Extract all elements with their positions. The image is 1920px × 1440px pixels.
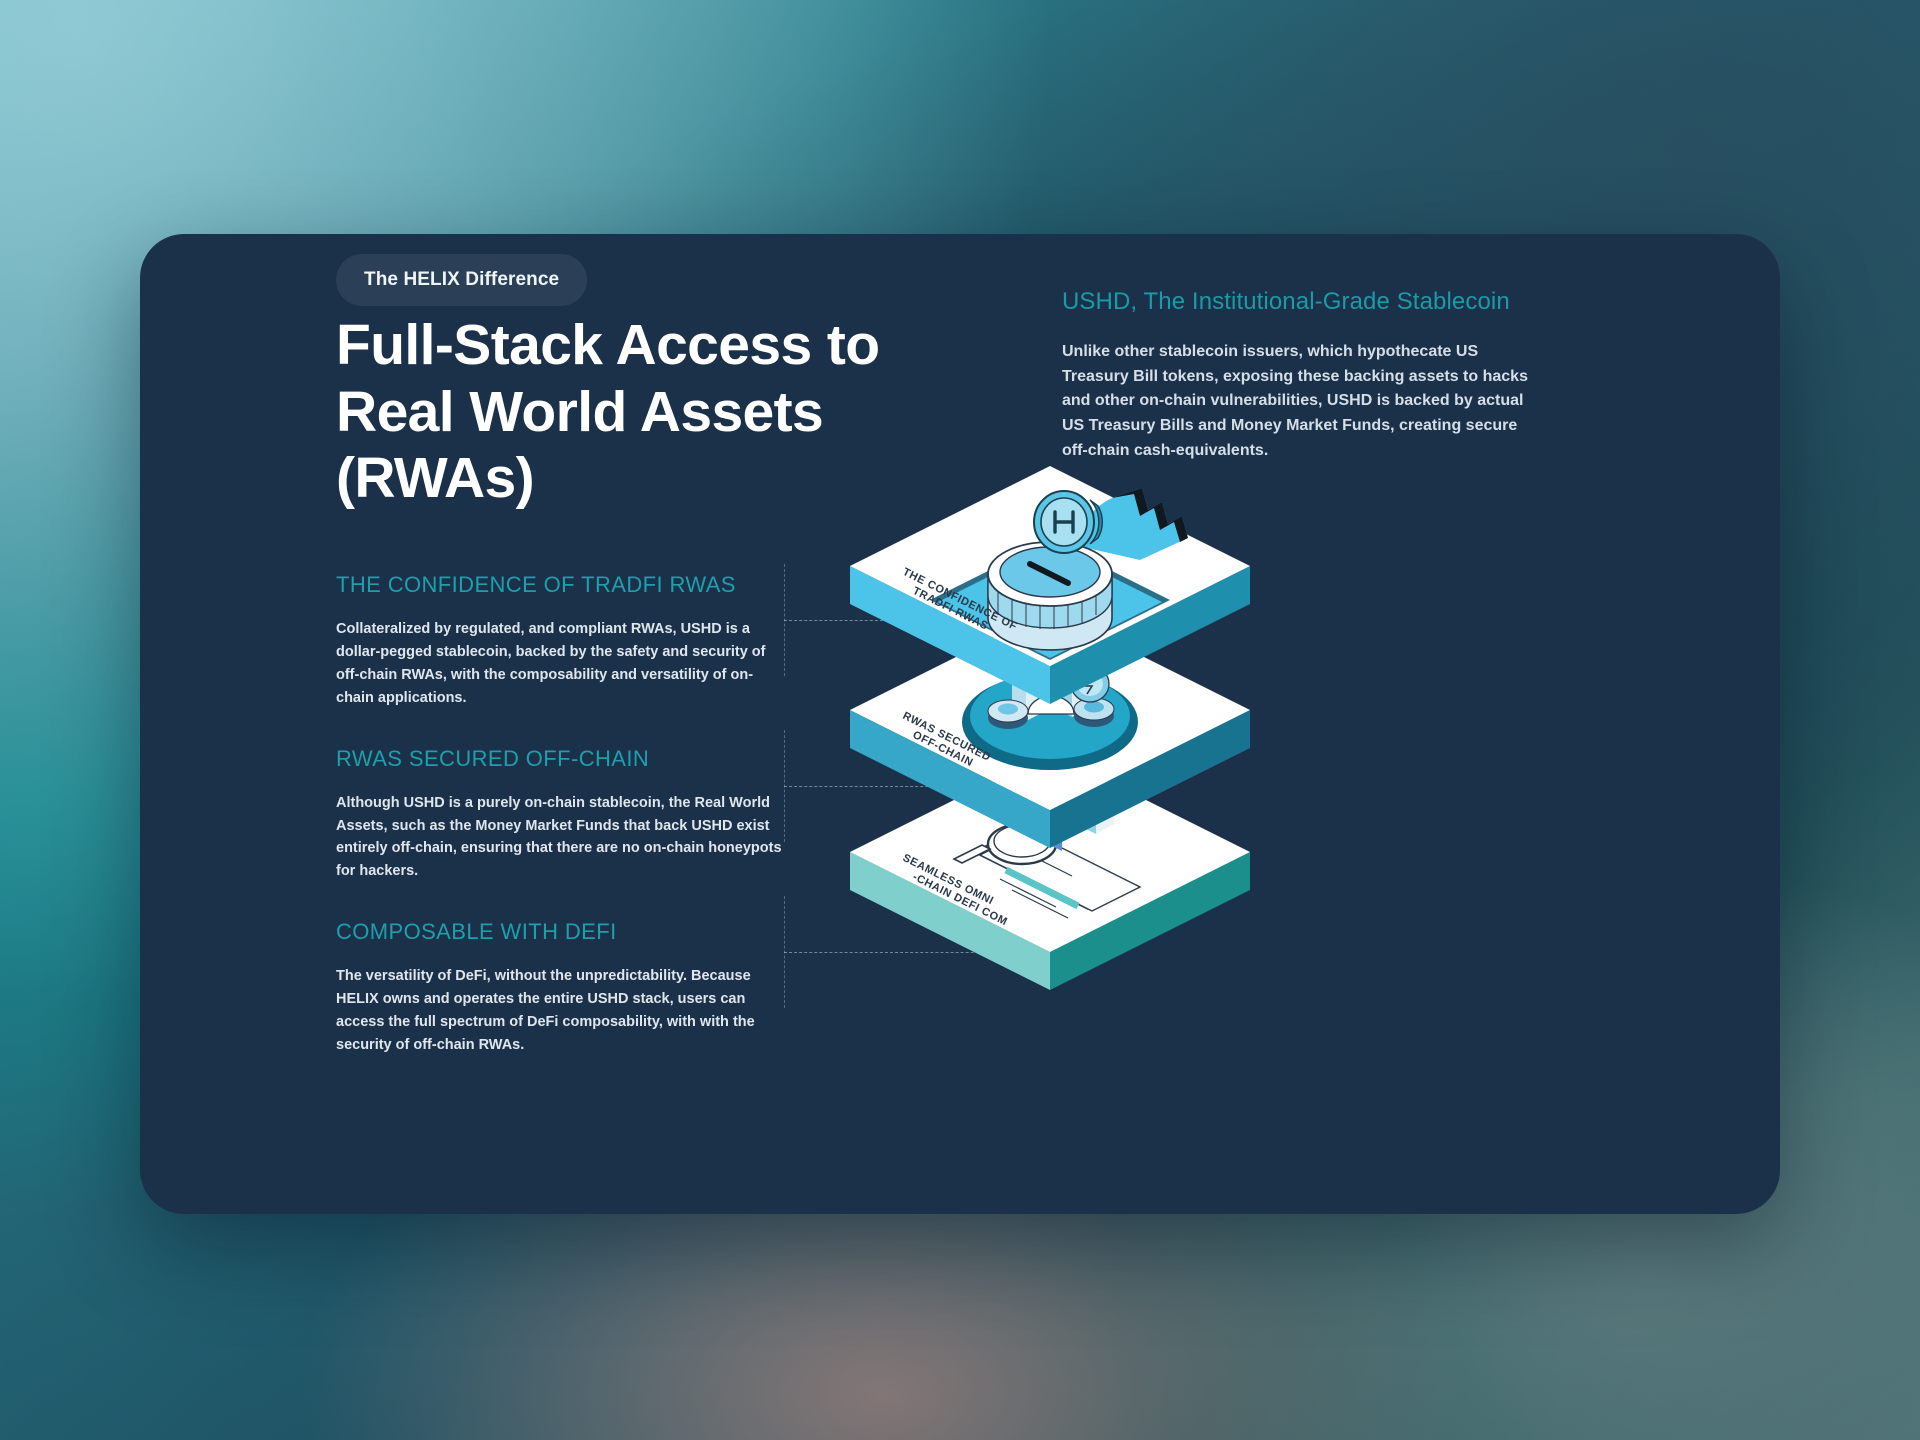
feature-item-offchain: RWAS SECURED OFF-CHAIN Although USHD is … — [336, 746, 784, 884]
section-badge-label: The HELIX Difference — [364, 269, 559, 291]
feature-item-defi: COMPOSABLE WITH DEFI The versatility of … — [336, 919, 784, 1057]
headline-line-2: Real World Assets — [336, 380, 823, 444]
feature-title: RWAS SECURED OFF-CHAIN — [336, 746, 784, 772]
isometric-stack-illustration: SEAMLESS OMNI -CHAIN DEFI COM — [840, 452, 1260, 1017]
layer-top: THE CONFIDENCE OF TRADFI RWAS — [850, 466, 1250, 704]
headline-line-3: (RWAs) — [336, 446, 534, 510]
coin-stack-small-icon — [1074, 698, 1114, 727]
coin-stack-icon — [988, 542, 1112, 650]
feature-list: THE CONFIDENCE OF TRADFI RWAS Collateral… — [336, 572, 784, 1057]
feature-body: Although USHD is a purely on-chain stabl… — [336, 792, 784, 884]
intro-body: Unlike other stablecoin issuers, which h… — [1062, 340, 1542, 463]
feature-body: Collateralized by regulated, and complia… — [336, 618, 784, 710]
coin-stack-small-icon — [988, 700, 1028, 729]
feature-title: THE CONFIDENCE OF TRADFI RWAS — [336, 572, 784, 598]
section-badge: The HELIX Difference — [336, 254, 587, 306]
headline-line-1: Full-Stack Access to — [336, 313, 879, 377]
feature-body: The versatility of DeFi, without the unp… — [336, 965, 784, 1057]
feature-title: COMPOSABLE WITH DEFI — [336, 919, 784, 945]
intro-block: USHD, The Institutional-Grade Stablecoin… — [1062, 288, 1542, 463]
helix-difference-card: The HELIX Difference Full-Stack Access t… — [140, 234, 1780, 1214]
intro-title: USHD, The Institutional-Grade Stablecoin — [1062, 288, 1542, 316]
feature-item-tradfi: THE CONFIDENCE OF TRADFI RWAS Collateral… — [336, 572, 784, 710]
